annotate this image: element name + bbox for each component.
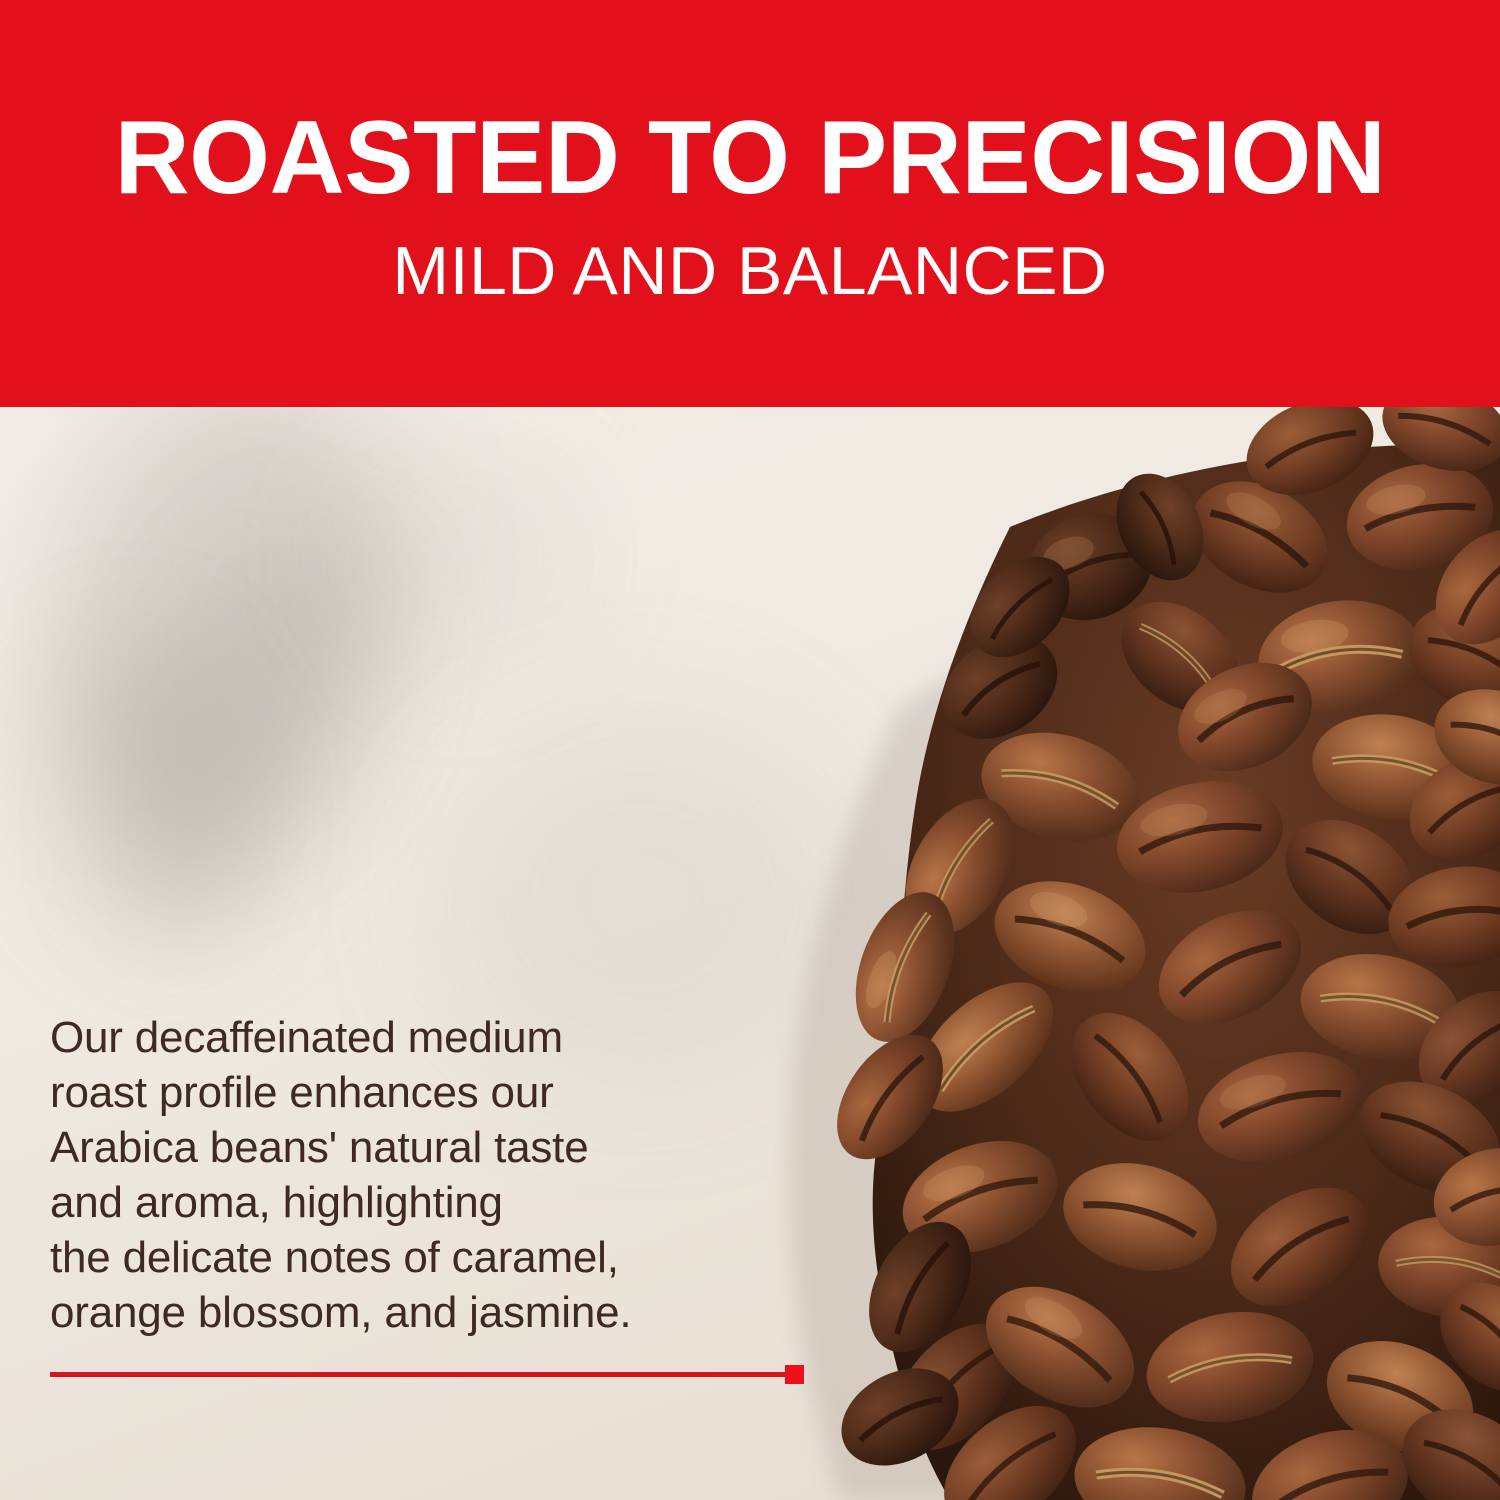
background-shadow-smudge <box>2 407 449 873</box>
background-shadow-smudge <box>73 504 427 969</box>
accent-divider <box>50 1365 802 1385</box>
header-band: ROASTED TO PRECISION MILD AND BALANCED <box>0 0 1500 407</box>
background-shadow-smudge <box>330 437 590 677</box>
page-subtitle: MILD AND BALANCED <box>0 237 1500 305</box>
promo-banner: ROASTED TO PRECISION MILD AND BALANCED <box>0 0 1500 1500</box>
background-shadow-smudge <box>11 619 269 954</box>
page-title: ROASTED TO PRECISION <box>0 106 1500 210</box>
divider-end-square <box>785 1365 804 1384</box>
divider-line <box>50 1372 788 1377</box>
product-photo-area: Our decaffeinated medium roast profile e… <box>0 407 1500 1500</box>
product-description: Our decaffeinated medium roast profile e… <box>50 1010 750 1340</box>
